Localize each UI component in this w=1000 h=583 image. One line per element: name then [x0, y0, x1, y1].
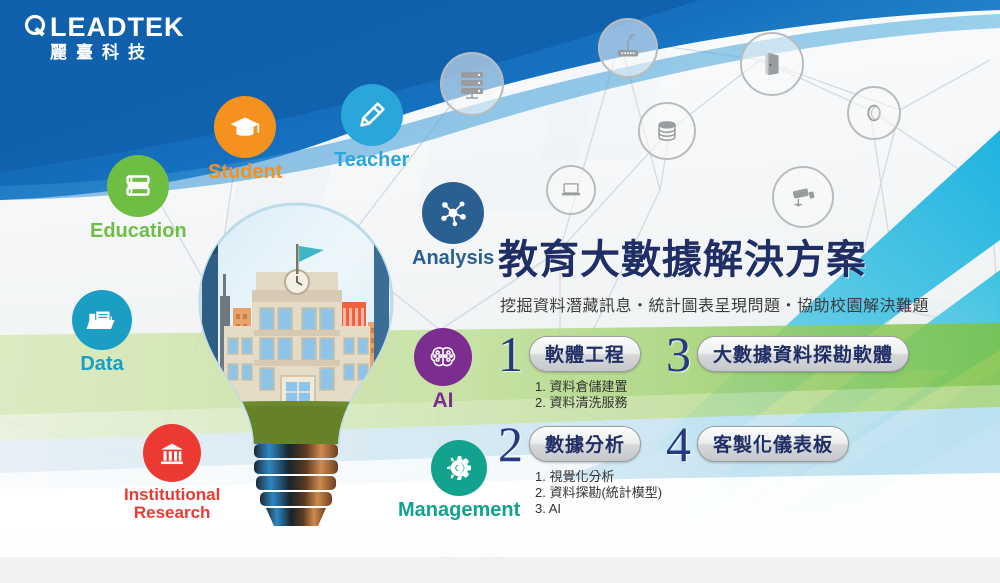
badge-label: Data: [80, 354, 123, 375]
badge-institutional-research: Institutional Research: [124, 424, 220, 522]
solution-item-1[interactable]: 1 軟體工程 1. 資料倉儲建置 2. 資料清洗服務: [498, 332, 666, 422]
gear-icon: [431, 440, 487, 496]
item-bullets: 1. 資料倉儲建置 2. 資料清洗服務: [535, 379, 641, 411]
door-access-icon: [740, 32, 804, 96]
badge-data: Data: [72, 290, 132, 375]
bullet: 2. 資料清洗服務: [535, 395, 641, 411]
pencil-icon: [341, 84, 403, 146]
badge-ai: AI: [414, 328, 472, 412]
q-mark-icon: [24, 14, 50, 40]
badge-education: Education: [90, 155, 187, 242]
graduation-cap-icon: [214, 96, 276, 158]
badge-teacher: Teacher: [334, 84, 409, 171]
folder-document-icon: [72, 290, 132, 350]
bullet: 2. 資料探勘(統計模型): [535, 485, 662, 501]
badge-label: Student: [208, 162, 282, 183]
bottom-strip: [0, 557, 1000, 583]
badge-label: Analysis: [412, 248, 494, 269]
item-label-pill[interactable]: 客製化儀表板: [697, 426, 849, 462]
item-number: 2: [498, 422, 523, 466]
item-number: 3: [666, 332, 691, 376]
item-bullets: 1. 視覺化分析 2. 資料探勘(統計模型) 3. AI: [535, 469, 662, 517]
network-nodes-icon: [422, 182, 484, 244]
item-number: 4: [666, 422, 691, 466]
solution-item-4[interactable]: 4 客製化儀表板: [666, 422, 968, 466]
laptop-icon: [546, 165, 596, 215]
item-label-pill[interactable]: 數據分析: [529, 426, 641, 462]
poster-canvas: LEADTEK 麗臺科技: [0, 0, 1000, 583]
brain-icon: [414, 328, 472, 386]
books-icon: [107, 155, 169, 217]
page-subtitle: 挖掘資料潛藏訊息・統計圖表呈現問題・協助校園解決難題: [500, 292, 968, 316]
bullet: 1. 資料倉儲建置: [535, 379, 641, 395]
badge-analysis: Analysis: [412, 182, 494, 269]
badge-label: Teacher: [334, 150, 409, 171]
solution-item-3[interactable]: 3 大數據資料探勘軟體: [666, 332, 968, 376]
badge-label: Education: [90, 221, 187, 242]
brand-logo: LEADTEK 麗臺科技: [24, 12, 204, 74]
badge-label: Institutional Research: [124, 486, 220, 522]
hero-content: 教育大數據解決方案 挖掘資料潛藏訊息・統計圖表呈現問題・協助校園解決難題 1 軟…: [498, 236, 968, 517]
database-cylinder-icon: [638, 102, 696, 160]
solution-items-grid: 1 軟體工程 1. 資料倉儲建置 2. 資料清洗服務 3 大數據資料探勘軟體 2: [498, 332, 968, 517]
wifi-router-icon: [598, 18, 658, 78]
page-title: 教育大數據解決方案: [498, 236, 968, 284]
brand-name-cn: 麗臺科技: [50, 42, 204, 64]
brand-name: LEADTEK: [50, 12, 204, 42]
bullet: 3. AI: [535, 501, 662, 517]
bullet: 1. 視覺化分析: [535, 469, 662, 485]
item-number: 1: [498, 332, 523, 376]
solution-item-2[interactable]: 2 數據分析 1. 視覺化分析 2. 資料探勘(統計模型) 3. AI: [498, 422, 666, 517]
institution-icon: [143, 424, 201, 482]
security-camera-icon: [772, 166, 834, 228]
badge-label: AI: [433, 390, 454, 412]
badge-student: Student: [208, 96, 282, 183]
ring-wearable-icon: [847, 86, 901, 140]
server-rack-icon: [440, 52, 504, 116]
item-label-pill[interactable]: 軟體工程: [529, 336, 641, 372]
item-label-pill[interactable]: 大數據資料探勘軟體: [697, 336, 909, 372]
